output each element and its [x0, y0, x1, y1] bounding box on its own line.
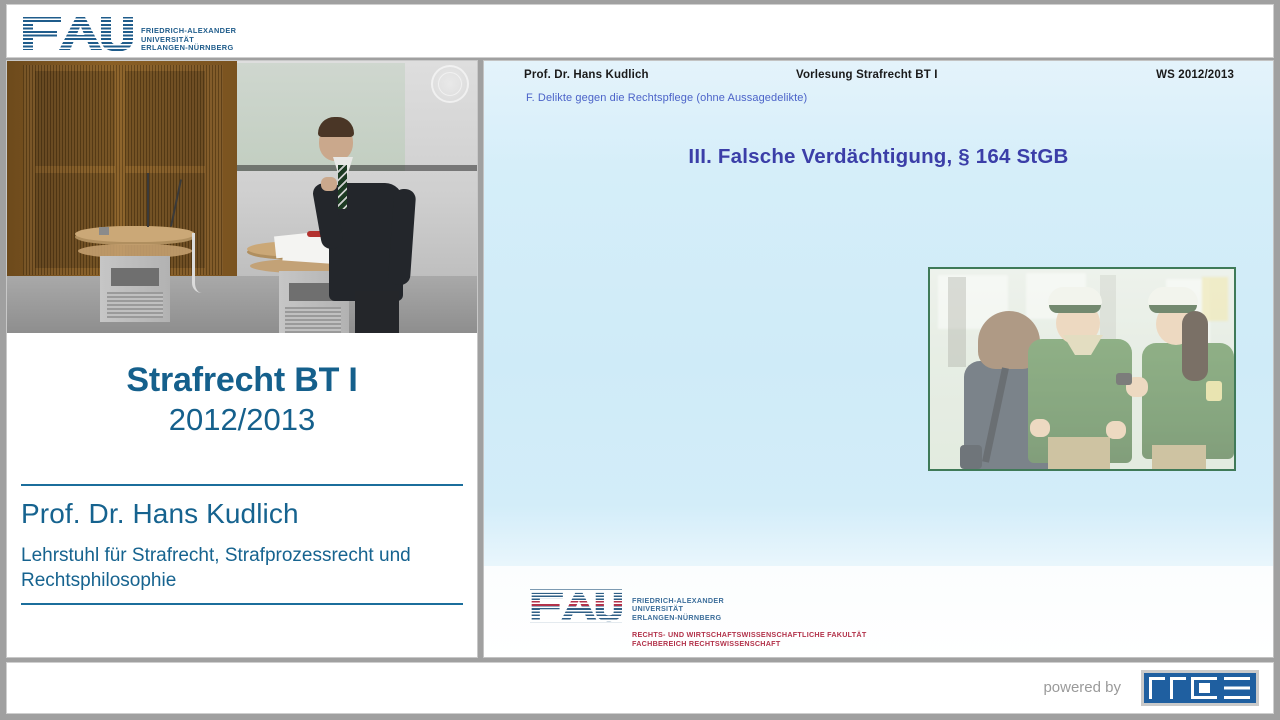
- course-title: Strafrecht BT I: [7, 361, 477, 400]
- lecture-video[interactable]: [7, 61, 477, 333]
- faculty-line-2: FACHBEREICH RECHTSWISSENSCHAFT: [632, 640, 867, 649]
- fau-letter-shapes: [21, 13, 133, 53]
- slide-section-label: F. Delikte gegen die Rechtspflege (ohne …: [526, 92, 807, 104]
- institution-seal-icon: [431, 65, 469, 103]
- slide-title: III. Falsche Verdächtigung, § 164 StGB: [484, 145, 1273, 169]
- course-title-block: Strafrecht BT I 2012/2013: [7, 361, 477, 438]
- fau-logo: FRIEDRICH-ALEXANDER UNIVERSITÄT ERLANGEN…: [21, 13, 236, 53]
- divider-top: [21, 484, 463, 486]
- slide-header-term: WS 2012/2013: [1156, 69, 1234, 81]
- chair-line-1: Lehrstuhl für Strafrecht, Strafprozessre…: [21, 545, 374, 566]
- fau-wordmark-icon-small: [530, 589, 622, 623]
- police-officers-photo: [928, 267, 1236, 471]
- slide-header-author: Prof. Dr. Hans Kudlich: [524, 69, 649, 81]
- course-year: 2012/2013: [7, 402, 477, 438]
- lecturer-name: Prof. Dr. Hans Kudlich: [21, 498, 299, 530]
- divider-bottom: [21, 603, 463, 605]
- fau-line-3: ERLANGEN-NÜRNBERG: [141, 44, 236, 53]
- slide-viewer[interactable]: Prof. Dr. Hans Kudlich Vorlesung Strafre…: [483, 60, 1274, 658]
- fau-f-line-3: ERLANGEN-NÜRNBERG: [632, 614, 867, 622]
- powered-by-label: powered by: [1043, 679, 1121, 696]
- fau-wordmark-icon: [21, 13, 133, 53]
- bottom-bar: powered by: [6, 662, 1274, 714]
- fau-logo-text: FRIEDRICH-ALEXANDER UNIVERSITÄT ERLANGEN…: [141, 27, 236, 53]
- slide-header-lecture: Vorlesung Strafrecht BT I: [796, 69, 938, 81]
- left-info-panel: Strafrecht BT I 2012/2013 Prof. Dr. Hans…: [6, 60, 478, 658]
- chair-description: Lehrstuhl für Strafrecht, Strafprozessre…: [21, 543, 471, 593]
- fau-faculty-text: FRIEDRICH-ALEXANDER UNIVERSITÄT ERLANGEN…: [632, 597, 867, 648]
- top-header-bar: FRIEDRICH-ALEXANDER UNIVERSITÄT ERLANGEN…: [6, 4, 1274, 58]
- fau-faculty-logo: FRIEDRICH-ALEXANDER UNIVERSITÄT ERLANGEN…: [530, 589, 867, 648]
- player-root: FRIEDRICH-ALEXANDER UNIVERSITÄT ERLANGEN…: [0, 0, 1280, 720]
- slide-header-row: Prof. Dr. Hans Kudlich Vorlesung Strafre…: [524, 69, 1234, 85]
- rrze-logo[interactable]: [1141, 670, 1259, 706]
